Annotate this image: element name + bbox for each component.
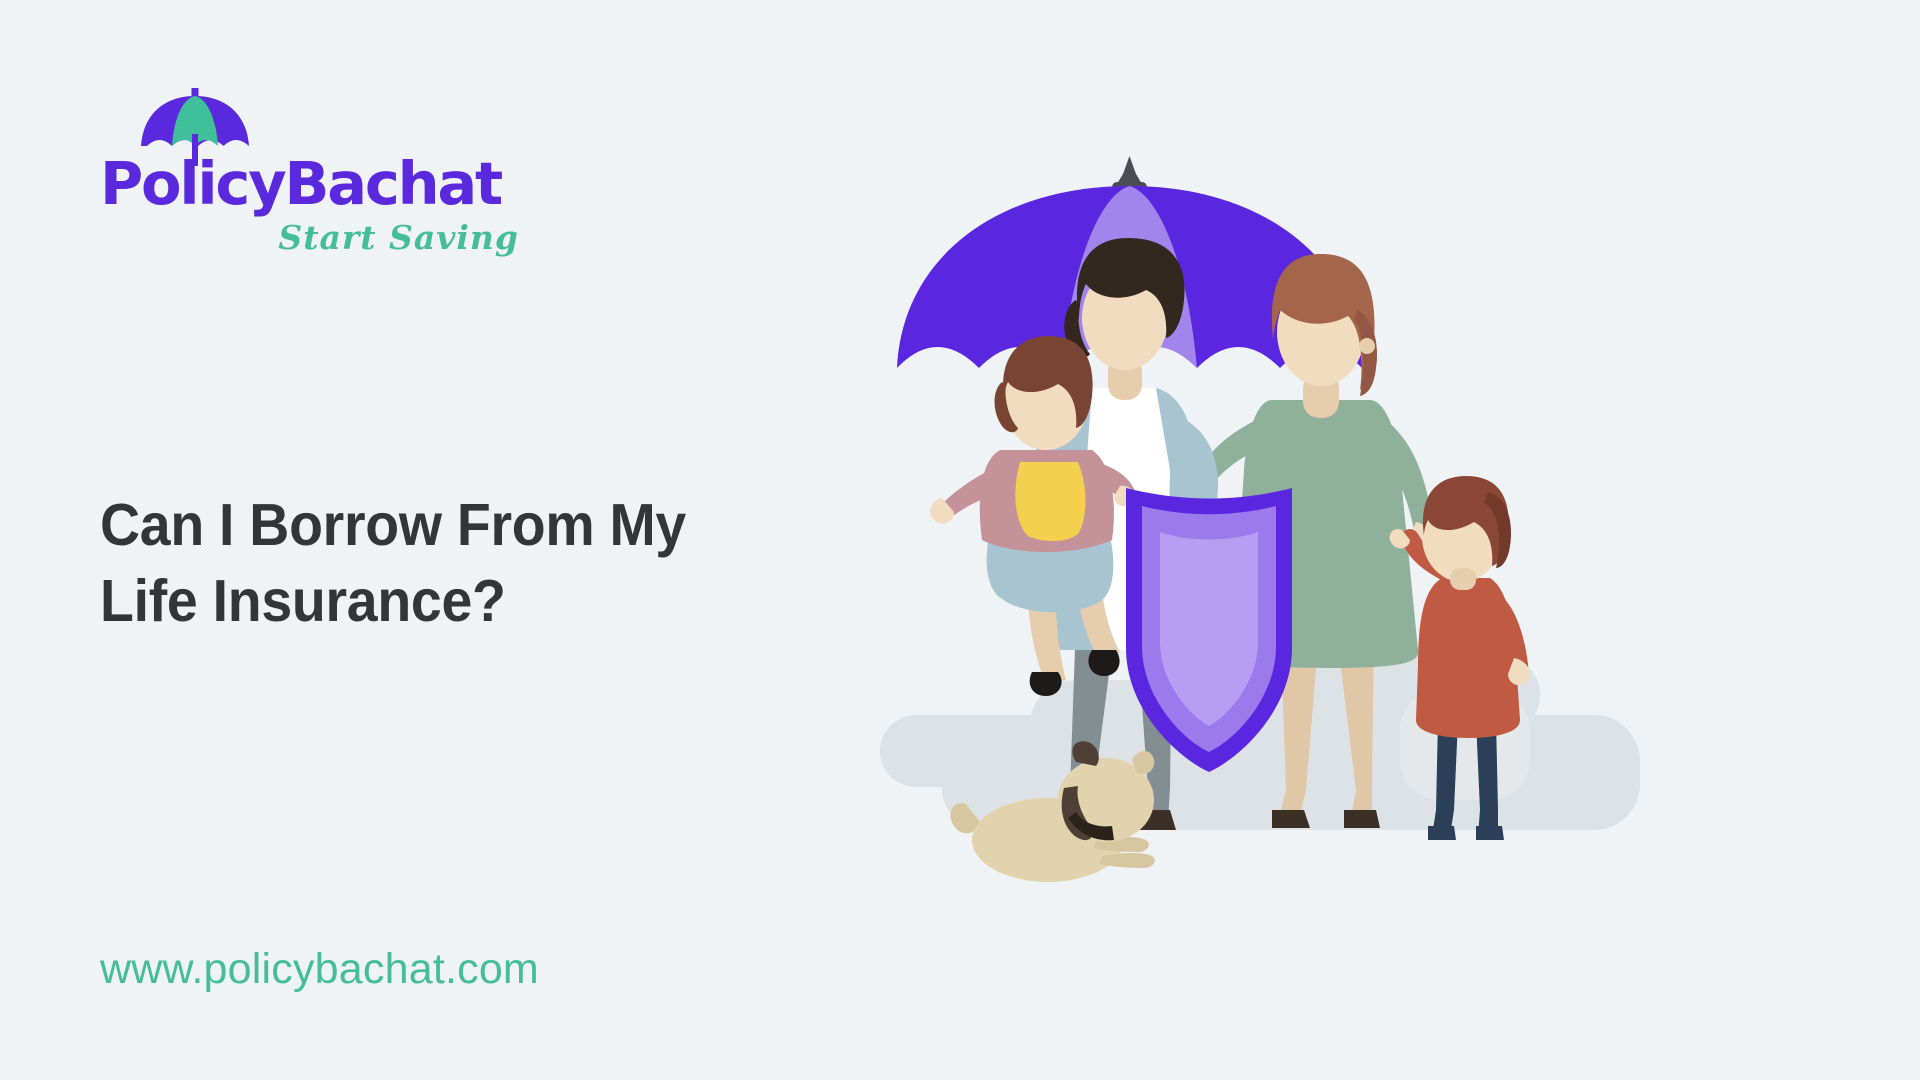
- brand-tagline: Start Saving: [100, 221, 520, 254]
- brand-logo[interactable]: PolicyBachat Start Saving: [100, 88, 520, 278]
- page-title: Can I Borrow From My Life Insurance?: [100, 487, 814, 639]
- page-title-line-2: Life Insurance?: [100, 563, 814, 639]
- site-url-link[interactable]: www.policybachat.com: [100, 945, 539, 994]
- page-title-line-1: Can I Borrow From My: [100, 487, 814, 563]
- family-illustration: [880, 150, 1800, 960]
- poster-canvas: PolicyBachat Start Saving Can I Borrow F…: [0, 0, 1920, 1080]
- brand-wordmark: PolicyBachat: [100, 154, 520, 213]
